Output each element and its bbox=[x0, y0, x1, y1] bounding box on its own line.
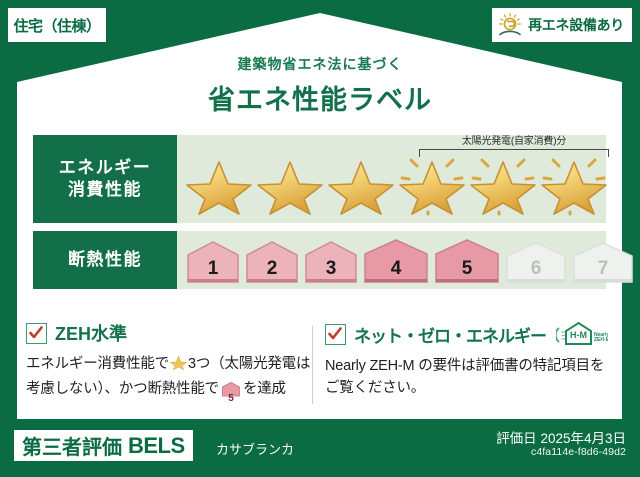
renewable-energy-badge: 再エネ設備あり bbox=[492, 8, 632, 42]
check-icon bbox=[26, 323, 47, 344]
star-icon bbox=[256, 154, 324, 216]
insulation-level-badge: 2 bbox=[244, 239, 300, 283]
insulation-level-number: 5 bbox=[433, 259, 501, 278]
insulation-level-badge-achieved: 5 bbox=[433, 237, 501, 283]
insulation-level-number: 3 bbox=[303, 259, 359, 278]
row-separator bbox=[33, 223, 606, 231]
star-icon bbox=[170, 359, 187, 375]
zeh-m-logo: H-M Nearly ZEH-M bbox=[556, 320, 608, 348]
insulation-row-label: 断熱性能 bbox=[33, 231, 177, 289]
title-subtitle: 建築物省エネ法に基づく bbox=[0, 54, 640, 74]
insulation-label: 断熱性能 bbox=[68, 249, 142, 271]
insulation-badge-inline: 5 bbox=[221, 381, 241, 404]
energy-performance-label: 住宅（住棟） 再エネ設備あり 建築物省エネ法に基づく bbox=[0, 0, 640, 477]
energy-row-body: 太陽光発電(自家消費)分 bbox=[177, 135, 608, 223]
zeh-standard-panel: ZEH水準 エネルギー消費性能で3つ（太陽光発電は考慮しない）、かつ断熱性能で5… bbox=[26, 320, 317, 405]
insulation-level-badge: 4 bbox=[362, 237, 430, 283]
zeh-desc-part3: を達成 bbox=[243, 381, 286, 397]
category-tag-label: 住宅（住棟） bbox=[13, 15, 100, 36]
category-tag: 住宅（住棟） bbox=[8, 8, 106, 42]
solar-annotation-label: 太陽光発電(自家消費)分 bbox=[419, 137, 609, 147]
net-zero-energy-panel: ネット・ゼロ・エネルギー H-M Nearly ZEH-M bbox=[317, 320, 616, 405]
title-block: 建築物省エネ法に基づく 省エネ性能ラベル bbox=[0, 54, 640, 117]
star-icon bbox=[327, 154, 395, 216]
info-area: ZEH水準 エネルギー消費性能で3つ（太陽光発電は考慮しない）、かつ断熱性能で5… bbox=[26, 320, 616, 405]
star-rating bbox=[177, 154, 608, 216]
check-icon bbox=[325, 324, 346, 345]
star-icon bbox=[185, 154, 253, 216]
bels-jp-label: 第三者評価 bbox=[22, 431, 122, 460]
insulation-level-badge: 1 bbox=[185, 239, 241, 283]
energy-row-label: エネルギー 消費性能 bbox=[33, 135, 177, 223]
insulation-badge-inline-number: 5 bbox=[221, 394, 241, 404]
insulation-performance-row: 断熱性能 1 bbox=[33, 231, 606, 289]
evaluation-date: 評価日 2025年4月3日 bbox=[496, 427, 626, 447]
zeh-standard-description: エネルギー消費性能で3つ（太陽光発電は考慮しない）、かつ断熱性能で5を達成 bbox=[26, 353, 317, 405]
star-solar-icon bbox=[469, 154, 537, 216]
insulation-level-badge-inactive: 7 bbox=[571, 239, 635, 283]
insulation-level-badge: 3 bbox=[303, 239, 359, 283]
evaluation-id: c4fa114e-f8d6-49d2 bbox=[531, 446, 626, 458]
insulation-level-number: 2 bbox=[244, 259, 300, 278]
svg-text:H-M: H-M bbox=[570, 330, 587, 340]
energy-label-line1: エネルギー bbox=[59, 157, 152, 179]
info-divider bbox=[312, 326, 313, 404]
zeh-standard-title: ZEH水準 bbox=[55, 320, 127, 346]
insulation-row-body: 1 2 3 bbox=[177, 231, 635, 289]
insulation-level-number: 4 bbox=[362, 259, 430, 278]
star-solar-icon bbox=[398, 154, 466, 216]
insulation-level-scale: 1 2 3 bbox=[177, 237, 635, 283]
building-name: カサブランカ bbox=[216, 439, 294, 458]
title-main: 省エネ性能ラベル bbox=[0, 78, 640, 117]
energy-label-line2: 消費性能 bbox=[68, 179, 142, 201]
solar-annotation: 太陽光発電(自家消費)分 bbox=[419, 137, 609, 157]
zeh-standard-header: ZEH水準 bbox=[26, 320, 317, 346]
sun-icon bbox=[496, 12, 524, 38]
insulation-level-badge-inactive: 6 bbox=[504, 239, 568, 283]
zeh-desc-part1: エネルギー消費性能で bbox=[26, 356, 169, 372]
insulation-level-number: 6 bbox=[504, 259, 568, 278]
insulation-level-number: 7 bbox=[571, 259, 635, 278]
svg-text:ZEH-M: ZEH-M bbox=[594, 337, 608, 343]
net-zero-energy-header: ネット・ゼロ・エネルギー H-M Nearly ZEH-M bbox=[325, 320, 616, 348]
net-zero-energy-description: Nearly ZEH-M の要件は評価書の特記項目をご覧ください。 bbox=[325, 355, 616, 400]
bels-en-label: BELS bbox=[128, 433, 185, 459]
renewable-badge-label: 再エネ設備あり bbox=[528, 15, 624, 35]
footer: 第三者評価 BELS カサブランカ 評価日 2025年4月3日 c4fa114e… bbox=[0, 419, 640, 477]
energy-performance-row: エネルギー 消費性能 太陽光発電(自家消費)分 bbox=[33, 135, 606, 223]
performance-rows: エネルギー 消費性能 太陽光発電(自家消費)分 bbox=[33, 135, 606, 289]
net-zero-energy-title: ネット・ゼロ・エネルギー bbox=[354, 322, 546, 347]
bels-badge: 第三者評価 BELS bbox=[14, 430, 193, 461]
star-solar-icon bbox=[540, 154, 608, 216]
solar-annotation-bracket bbox=[419, 149, 609, 157]
insulation-level-number: 1 bbox=[185, 259, 241, 278]
